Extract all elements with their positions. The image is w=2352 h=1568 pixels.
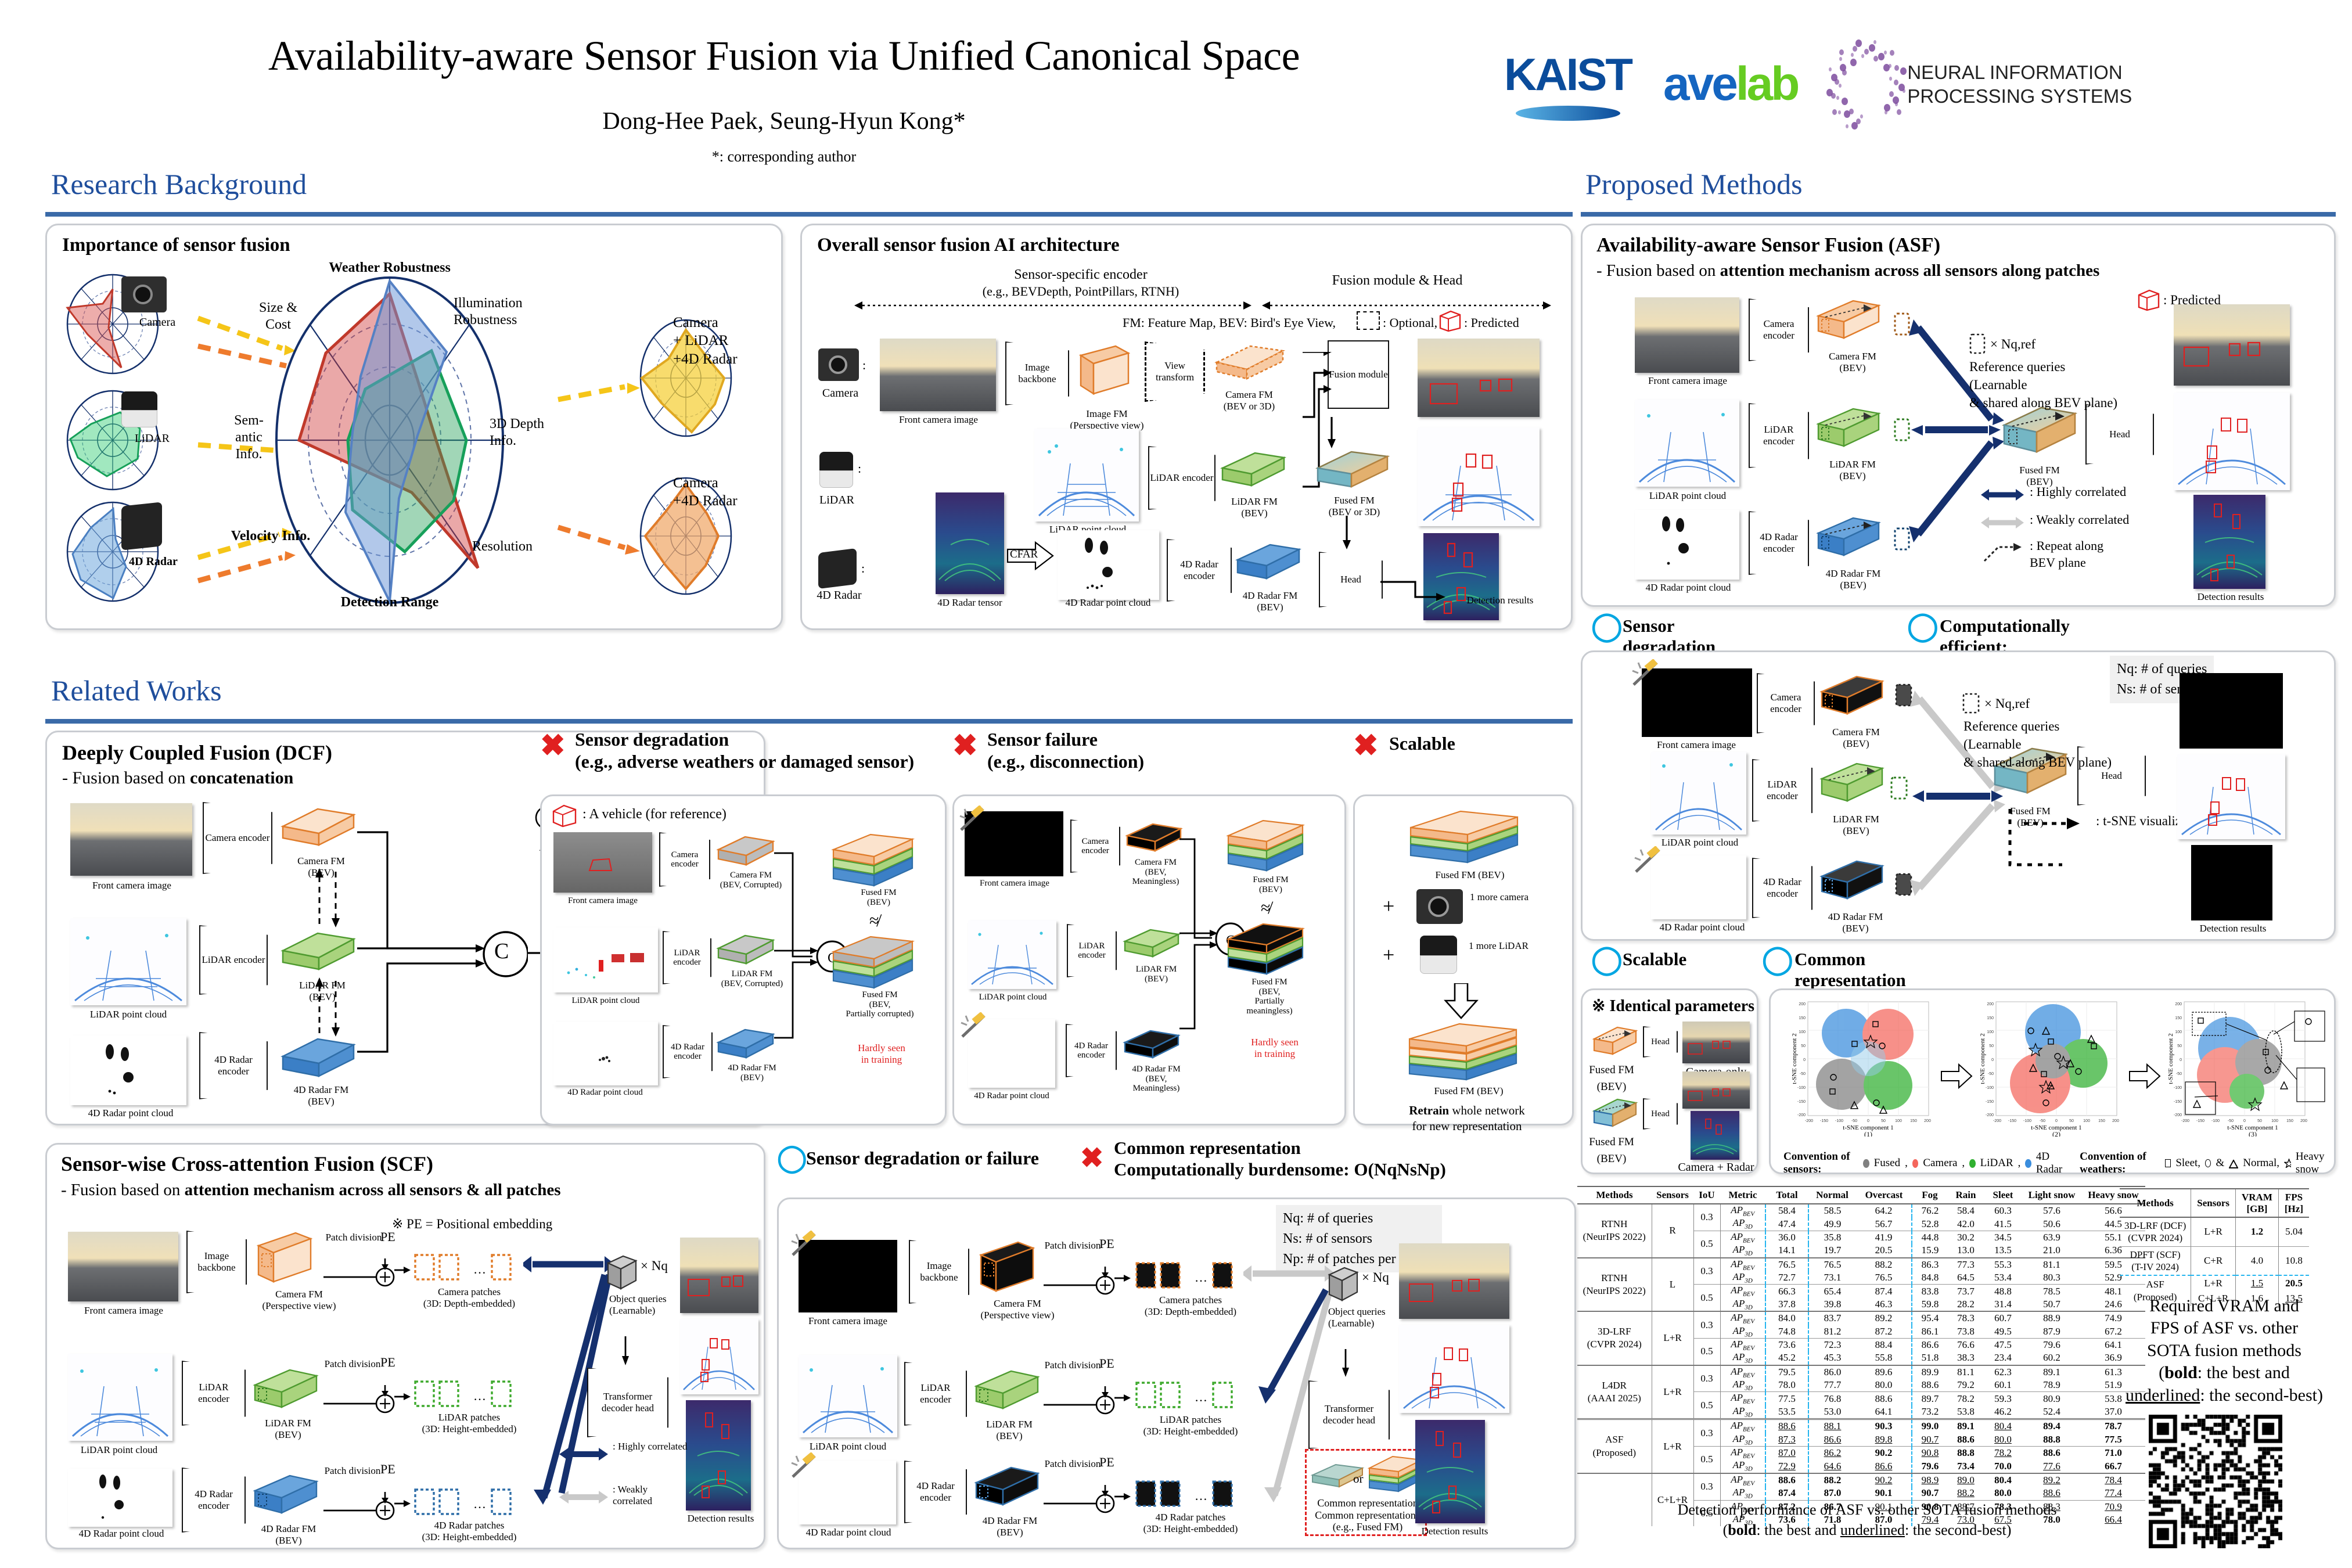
results-value-cell: 88.4 — [1856, 1338, 1912, 1351]
scfb-patch-division-1: Patch division — [1044, 1240, 1102, 1251]
svg-text:-200: -200 — [1986, 1113, 1994, 1117]
results-value-cell: 87.4 — [1856, 1285, 1912, 1298]
scf-object-queries-label: Object queries(Learnable) — [609, 1293, 691, 1316]
results-value-cell: 78.3 — [1948, 1311, 1984, 1325]
results-value-cell: 88.8 — [1948, 1447, 1984, 1460]
results-value-cell: 39.8 — [1808, 1298, 1856, 1311]
output-radar-label-2: Camera +4D Radar — [673, 474, 783, 510]
results-value-cell: 48.8 — [1984, 1285, 2022, 1298]
legend-predicted: : Predicted — [1464, 315, 1519, 330]
group-label-encoder: Sensor-specific encoder (e.g., BEVDepth,… — [924, 266, 1238, 300]
scf-pe-1: PE — [380, 1229, 395, 1245]
scfb-patch-out-2 — [1114, 1391, 1132, 1405]
results-metric-cell: APBEV — [1720, 1365, 1765, 1379]
vram-caption-line-3: SOTA fusion methods — [2102, 1340, 2346, 1362]
results-table-wrapper: MethodsSensorsIoUMetricTotalNormalOverca… — [1577, 1186, 2145, 1526]
results-value-cell: 14.1 — [1765, 1244, 1808, 1257]
asf-camera-photo — [1635, 297, 1739, 373]
results-value-cell: 88.6 — [1765, 1473, 1808, 1487]
results-metric-cell: APBEV — [1720, 1473, 1765, 1487]
degradation-camera-photo-label: Front camera image — [548, 896, 658, 906]
degradation-radar-photo — [553, 1022, 658, 1085]
scfb-patch-out-3 — [1114, 1490, 1132, 1504]
degradation-title: Sensor degradation (e.g., adverse weathe… — [575, 728, 914, 773]
results-value-cell: 89.9 — [1912, 1365, 1948, 1379]
degradation-lidar-photo-label: LiDAR point cloud — [545, 996, 666, 1006]
scf-query-down-arrow — [620, 1336, 631, 1366]
results-value-cell: 42.0 — [1948, 1217, 1984, 1231]
front-camera-image-label: Front camera image — [872, 414, 1005, 426]
legend-label-sleet: Sleet, — [2175, 1157, 2200, 1170]
scfb-camera-fm-label: Camera FM(Perspective view) — [968, 1298, 1067, 1321]
asf2-camera-encoder: Camera encoder — [1757, 673, 1815, 733]
vram-row: ASF(Proposed)L+R1.520.5 — [2120, 1275, 2309, 1291]
camera-fm-slab — [1212, 340, 1286, 387]
results-sensors-cell: L — [1652, 1258, 1693, 1312]
results-value-cell: 57.6 — [2022, 1204, 2081, 1217]
results-metric-cell: AP3D — [1720, 1244, 1765, 1257]
results-iou-cell: 0.5 — [1693, 1447, 1720, 1473]
results-col-1: Sensors — [1652, 1186, 1693, 1204]
asf-subtitle: - Fusion based on attention mechanism ac… — [1596, 261, 2099, 280]
mini-radar-camera-radar: Camera +4D Radar — [628, 475, 750, 600]
radar-axis-velocity: Velocity Info. — [227, 527, 314, 545]
results-metric-cell: AP3D — [1720, 1459, 1765, 1473]
results-metric-cell: APBEV — [1720, 1231, 1765, 1244]
dcf-interchange-arrow-2 — [311, 976, 346, 1038]
tsne-plot-1: 20015010050 0-50-100-150-200 -200-150-10… — [1783, 998, 1936, 1139]
svg-text:-50: -50 — [2040, 1119, 2045, 1123]
svg-text:0: 0 — [1991, 1058, 1994, 1062]
panel-scalable-rw: Fused FM (BEV) + 1 more camera + 1 more … — [1353, 794, 1574, 1125]
image-backbone-label: Image backbone — [1006, 362, 1068, 384]
results-value-cell: 89.2 — [1856, 1311, 1912, 1325]
results-method-cell: L4DR(AAAI 2025) — [1577, 1365, 1652, 1419]
results-value-cell: 64.6 — [1808, 1459, 1856, 1473]
legend-label-camera: Camera — [1923, 1157, 1957, 1170]
rule-research-background — [45, 212, 1573, 217]
results-iou-cell: 0.3 — [1693, 1419, 1720, 1447]
results-value-cell: 65.4 — [1808, 1285, 1856, 1298]
results-value-cell: 78.2 — [1984, 1447, 2022, 1460]
results-value-cell: 78.7 — [2081, 1419, 2145, 1433]
asf-legend-repeat: : Repeat along BEV plane — [2030, 538, 2103, 571]
panel-tsne: 20015010050 0-50-100-150-200 -200-150-10… — [1769, 988, 2336, 1174]
scf-legend-highly: : Highly correlated — [613, 1441, 688, 1452]
svg-text:-150: -150 — [2196, 1119, 2204, 1123]
legend-label-normal: Normal, — [2243, 1157, 2279, 1170]
results-iou-cell: 0.3 — [1693, 1258, 1720, 1285]
scfb-radar-photo-label: 4D Radar point cloud — [785, 1527, 912, 1538]
results-value-cell: 41.5 — [1984, 1217, 2022, 1231]
asf-lidar-photo — [1635, 400, 1739, 487]
failure-camera-encoder: Camera encoder — [1070, 819, 1120, 873]
results-value-cell: 79.2 — [1948, 1379, 1984, 1392]
asf-weakly-arrow-icon — [1981, 516, 2025, 530]
fps-value-cell: 20.5 — [2278, 1275, 2309, 1291]
svg-text:-100: -100 — [1797, 1086, 1806, 1090]
detection-camera-result-photo — [1418, 339, 1540, 417]
results-value-cell: 80.4 — [1984, 1473, 2022, 1487]
legend-optional: : Optional, — [1383, 315, 1437, 330]
scf-camera-photo-label: Front camera image — [60, 1305, 188, 1317]
lidar-encoder-block: LiDAR encoder — [1148, 446, 1215, 510]
poster-header: Availability-aware Sensor Fusion via Uni… — [0, 0, 2352, 168]
scf-lidar-photo-label: LiDAR point cloud — [56, 1444, 182, 1456]
legend-fm-bev: FM: Feature Map, BEV: Bird's Eye View, — [1123, 315, 1336, 330]
image-fm-label: Image FM (Perspective view) — [1063, 408, 1150, 431]
results-value-cell: 86.1 — [1912, 1325, 1948, 1339]
vram-caption-line-5: underlined: the second-best) — [2102, 1384, 2346, 1407]
lidar-sensor-icon — [819, 452, 853, 488]
scfb-spark-icon-2 — [789, 1452, 819, 1480]
failure-x-icon: ✖ — [952, 728, 978, 763]
results-metric-cell: AP3D — [1720, 1433, 1765, 1447]
svg-text:-150: -150 — [2008, 1119, 2016, 1123]
results-value-cell: 23.4 — [1984, 1351, 2022, 1365]
results-value-cell: 47.4 — [1765, 1217, 1808, 1231]
scfb-pe-3: PE — [1099, 1455, 1114, 1470]
asf-radar-fm-label: 4D Radar FM(BEV) — [1807, 568, 1900, 591]
results-method-cell: ASF(Proposed) — [1577, 1419, 1652, 1473]
asf-title: Availability-aware Sensor Fusion (ASF) — [1596, 233, 1940, 257]
dcf-lidar-photo — [70, 918, 186, 1005]
asf-lidar-fm-label: LiDAR FM(BEV) — [1809, 459, 1896, 481]
scfb-image-backbone: Image backbone — [909, 1240, 969, 1304]
scalable-fused-stack-2 — [1406, 1022, 1522, 1085]
results-value-cell: 66.7 — [2081, 1459, 2145, 1473]
asf-badge-scalable-label: Scalable — [1623, 949, 1686, 970]
results-value-cell: 87.0 — [1808, 1487, 1856, 1500]
results-value-cell: 86.6 — [1808, 1433, 1856, 1447]
svg-text:50: 50 — [1989, 1044, 1994, 1048]
svg-text:-150: -150 — [1986, 1100, 1994, 1104]
results-value-cell: 50.7 — [2022, 1298, 2081, 1311]
ip-head-2: Head — [1643, 1098, 1678, 1130]
svg-text:150: 150 — [2175, 1016, 2182, 1020]
radar-tensor-label: 4D Radar tensor — [922, 597, 1018, 609]
results-method-cell: RTNH(NeurIPS 2022) — [1577, 1258, 1652, 1312]
results-value-cell: 56.7 — [1856, 1217, 1912, 1231]
cfar-label: CFAR — [1010, 548, 1038, 561]
asf2-ref-queries-mult: × Nq,ref — [1984, 696, 2030, 711]
svg-text:200: 200 — [1799, 1002, 1806, 1006]
table-row: RTNH(NeurIPS 2022)R0.3APBEV58.458.564.27… — [1577, 1204, 2145, 1217]
results-value-cell: 90.2 — [1856, 1447, 1912, 1460]
ip-camera-radar-photo-top — [1682, 1071, 1750, 1109]
scalable-x-icon: ✖ — [1353, 728, 1379, 763]
vram-method-cell: 3D-LRF (DCF)(CVPR 2024) — [2120, 1217, 2191, 1246]
results-value-cell: 88.9 — [2022, 1311, 2081, 1325]
results-value-cell: 46.2 — [1984, 1405, 2022, 1419]
optional-box-icon — [1357, 311, 1380, 330]
results-value-cell: 15.9 — [1912, 1244, 1948, 1257]
results-value-cell: 87.0 — [1765, 1447, 1808, 1460]
scfb-radar-patches-label: 4D Radar patches(3D: Height-embedded) — [1124, 1512, 1257, 1534]
scf-x-text: Common representation Computationally bu… — [1114, 1137, 1446, 1180]
results-value-cell: 77.6 — [2022, 1459, 2081, 1473]
results-value-cell: 98.9 — [1912, 1473, 1948, 1487]
svg-text:100: 100 — [2083, 1119, 2090, 1123]
radar-axis-semantic: Sem-anticInfo. — [215, 412, 282, 462]
failure-radar-encoder: 4D Radar encoder — [1066, 1024, 1117, 1077]
neurips-line-1: NEURAL INFORMATION — [1907, 60, 2132, 84]
vram-sensors-cell: C+R — [2191, 1246, 2236, 1275]
scf-patch-arrow-2 — [323, 1385, 399, 1418]
head-label: Head — [1340, 574, 1361, 585]
failure-lidar-photo — [968, 920, 1056, 989]
radar-icon — [121, 502, 162, 550]
svg-text:200: 200 — [1924, 1119, 1931, 1123]
scf-patch-division-2: Patch division — [323, 1358, 382, 1370]
results-value-cell: 88.6 — [1765, 1419, 1808, 1433]
qr-code[interactable] — [2149, 1415, 2282, 1548]
results-value-cell: 49.9 — [1808, 1217, 1856, 1231]
asf-ref-queries-mult: × Nq,ref — [1990, 337, 2035, 352]
results-value-cell: 86.3 — [1912, 1258, 1948, 1271]
svg-text:100: 100 — [2175, 1030, 2182, 1034]
asf-ref-queries-note: Reference queries (Learnable & shared al… — [1969, 358, 2117, 412]
results-metric-cell: APBEV — [1720, 1447, 1765, 1460]
dcf-camera-fm-slab — [279, 803, 358, 853]
degradation-camera-encoder: Camera encoder — [659, 832, 710, 887]
radar-axis-illumination: Illumination Robustness — [454, 295, 558, 329]
vram-row: DPFT (SCF)(T-IV 2024)C+R4.010.8 — [2120, 1246, 2309, 1275]
results-col-10: Light snow — [2022, 1186, 2081, 1204]
mini-radar-lidar-label: LiDAR — [120, 432, 184, 445]
results-col-9: Sleet — [1984, 1186, 2022, 1204]
results-value-cell: 88.6 — [1912, 1379, 1948, 1392]
scfb-nq-label: × Nq — [1362, 1270, 1389, 1285]
results-value-cell: 60.3 — [1984, 1204, 2022, 1217]
results-value-cell: 80.0 — [1984, 1487, 2022, 1500]
mini-radar-4dradar-label: 4D Radar — [116, 555, 191, 569]
view-transform-label: View transform — [1146, 360, 1203, 383]
results-iou-cell: 0.5 — [1693, 1338, 1720, 1365]
failure-hardly-seen: Hardly seenin training — [1228, 1037, 1321, 1059]
mini-radar-camera: Camera — [57, 272, 191, 379]
svg-text:-200: -200 — [1797, 1113, 1806, 1117]
results-value-cell: 73.6 — [1765, 1338, 1808, 1351]
results-value-cell: 47.5 — [1984, 1338, 2022, 1351]
scalable-plus-1: + — [1383, 894, 1394, 918]
results-value-cell: 89.4 — [2022, 1419, 2081, 1433]
tsne-legend-weathers-title: Convention of weathers: — [2080, 1150, 2160, 1176]
dcf-lidar-label: LiDAR point cloud — [62, 1009, 195, 1020]
results-iou-cell: 0.3 — [1693, 1311, 1720, 1338]
results-value-cell: 55.3 — [1984, 1258, 2022, 1271]
results-iou-cell: 0.3 — [1693, 1204, 1720, 1231]
vram-table-caption: Required VRAM and FPS of ASF vs. other S… — [2102, 1295, 2346, 1407]
radar-sensor-label: 4D Radar — [804, 589, 874, 602]
ip-fused-label-2: Fused FM (BEV) — [1586, 1134, 1637, 1167]
results-table: MethodsSensorsIoUMetricTotalNormalOverca… — [1577, 1186, 2145, 1526]
results-value-cell: 41.9 — [1856, 1231, 1912, 1244]
scf-transformer-head: Transformer decoder head — [587, 1368, 668, 1437]
svg-text:150: 150 — [2286, 1119, 2293, 1123]
svg-text:(2): (2) — [2052, 1130, 2060, 1137]
scfb-camera-fm-cube — [974, 1238, 1038, 1296]
kaist-logo: KAIST — [1504, 48, 1631, 121]
scf-subtitle: - Fusion based on attention mechanism ac… — [61, 1181, 561, 1200]
results-sensors-cell: R — [1652, 1204, 1693, 1258]
legend-label-amp: & — [2216, 1157, 2224, 1170]
fps-value-cell: 10.8 — [2278, 1246, 2309, 1275]
results-value-cell: 64.5 — [1948, 1271, 1984, 1285]
scfb-camera-photo-label: Front camera image — [788, 1315, 908, 1327]
results-method-cell: 3D-LRF(CVPR 2024) — [1577, 1311, 1652, 1365]
asf-badge-scalable-icon: ◯ — [1591, 943, 1623, 976]
vram-table: MethodsSensorsVRAM[GB]FPS[Hz]3D-LRF (DCF… — [2120, 1188, 2309, 1306]
svg-text:-100: -100 — [2174, 1086, 2182, 1090]
results-value-cell: 38.3 — [1948, 1351, 1984, 1365]
asf2-radar-photo-label: 4D Radar point cloud — [1639, 922, 1765, 933]
legend-label-radar: 4D Radar — [2036, 1150, 2066, 1176]
results-value-cell: 20.5 — [1856, 1244, 1912, 1257]
scf-camera-patches-label: Camera patches(3D: Depth-embedded) — [402, 1286, 536, 1309]
svg-text:-200: -200 — [1993, 1119, 2001, 1123]
svg-text:t-SNE component 2: t-SNE component 2 — [1979, 1033, 1986, 1084]
radar-encoder-block: 4D Radar encoder — [1167, 539, 1232, 602]
legend-marker-circle — [2205, 1159, 2211, 1167]
svg-text:-150: -150 — [1797, 1100, 1806, 1104]
results-value-cell: 88.8 — [2022, 1433, 2081, 1447]
results-value-cell: 53.5 — [1765, 1405, 1808, 1419]
lidar-point-cloud-photo — [1034, 429, 1139, 522]
results-metric-cell: AP3D — [1720, 1271, 1765, 1285]
avelab-logo-ave: ave — [1663, 57, 1736, 110]
dcf-concat-symbol: C — [494, 938, 509, 964]
results-col-8: Rain — [1948, 1186, 1984, 1204]
failure-radar-fm-slab — [1123, 1026, 1182, 1063]
table-row: 3D-LRF(CVPR 2024)L+R0.3APBEV84.083.789.2… — [1577, 1311, 2145, 1325]
results-value-cell: 76.5 — [1856, 1271, 1912, 1285]
scf-patch-arrow-3 — [323, 1492, 399, 1524]
lidar-fm-slab — [1219, 447, 1288, 494]
section-related-works: Related Works — [51, 674, 222, 707]
svg-text:0: 0 — [2243, 1119, 2246, 1123]
asf-camera-fm-label: Camera FM(BEV) — [1809, 351, 1896, 373]
results-value-cell: 77.3 — [1948, 1258, 1984, 1271]
results-value-cell: 49.5 — [1984, 1325, 2022, 1339]
svg-text:150: 150 — [2098, 1119, 2105, 1123]
results-value-cell: 87.3 — [1765, 1433, 1808, 1447]
results-value-cell: 37.0 — [2081, 1405, 2145, 1419]
legend-label-lidar: LiDAR — [1980, 1157, 2013, 1170]
results-value-cell: 64.1 — [1856, 1405, 1912, 1419]
vram-value-cell: 4.0 — [2236, 1246, 2279, 1275]
results-value-cell: 52.8 — [1912, 1217, 1948, 1231]
camera-fm-label: Camera FM (BEV or 3D) — [1203, 389, 1296, 412]
dcf-front-camera-label: Front camera image — [63, 880, 200, 891]
results-value-cell: 77.5 — [2081, 1433, 2145, 1447]
results-value-cell: 45.3 — [1808, 1351, 1856, 1365]
scf-patch-out-arrow-1 — [394, 1263, 412, 1277]
results-value-cell: 89.6 — [1856, 1365, 1912, 1379]
asf-badge-ok-icon-1: ◯ — [1591, 610, 1623, 642]
svg-text:-50: -50 — [1800, 1072, 1806, 1076]
failure-fused-bot-label: Fused FM (BEV, Partially meaningless) — [1226, 977, 1313, 1016]
results-caption-line-1: Detection performance of ASF vs. other S… — [1568, 1499, 2166, 1520]
results-value-cell: 81.1 — [2022, 1258, 2081, 1271]
failure-spark-icon-1 — [958, 805, 988, 833]
ip-fused-label-1: Fused FM (BEV) — [1586, 1062, 1637, 1095]
results-value-cell: 87.9 — [2022, 1325, 2081, 1339]
dcf-interchange-arrow-1 — [311, 867, 346, 929]
svg-text:t-SNE component 2: t-SNE component 2 — [1791, 1033, 1798, 1084]
scf-radar-fm-slab — [250, 1471, 320, 1524]
svg-text:-100: -100 — [2023, 1119, 2031, 1123]
asf-fused-fm-slab — [1998, 403, 2080, 467]
asf-badge-ok-icon-2: ◯ — [1907, 610, 1939, 642]
svg-text:…: … — [473, 1389, 486, 1403]
view-transform-block: View transform — [1145, 341, 1205, 402]
results-value-cell: 58.4 — [1948, 1204, 1984, 1217]
svg-text:100: 100 — [1987, 1030, 1994, 1034]
detection-results-label: Detection results — [1448, 595, 1552, 606]
asf2-radar-fm-label: 4D Radar FM(BEV) — [1809, 911, 1902, 934]
panel-sensor-failure: Front camera image Camera encoder Camera… — [952, 794, 1346, 1125]
asf2-lidar-result-photo — [2177, 754, 2285, 839]
results-value-cell: 51.8 — [1912, 1351, 1948, 1365]
results-value-cell: 64.2 — [1856, 1204, 1912, 1217]
scalable-fused-label-1: Fused FM (BEV) — [1400, 869, 1540, 881]
svg-text:-50: -50 — [2176, 1072, 2182, 1076]
image-fm-slab — [1075, 340, 1131, 405]
results-value-cell: 77.5 — [1765, 1392, 1808, 1405]
dcf-camera-encoder-block: Camera encoder — [203, 802, 272, 874]
results-value-cell: 80.3 — [2022, 1271, 2081, 1285]
scfb-radar-result-photo — [1415, 1420, 1485, 1523]
legend-label-heavysnow: Heavy snow — [2296, 1150, 2334, 1176]
results-value-cell: 28.2 — [1948, 1298, 1984, 1311]
camera-colon: : — [862, 358, 866, 373]
results-sensors-cell: L+R — [1652, 1365, 1693, 1419]
camera-sensor-label: Camera — [811, 387, 869, 400]
degradation-camera-photo — [553, 832, 652, 893]
results-caption-line-2: (bold: the best and underlined: the seco… — [1568, 1520, 2166, 1540]
results-value-cell: 76.8 — [1808, 1392, 1856, 1405]
results-iou-cell: 0.5 — [1693, 1285, 1720, 1311]
asf2-radar-photo — [1651, 855, 1746, 919]
scf-patch-arrow-1 — [323, 1258, 399, 1291]
results-metric-cell: AP3D — [1720, 1217, 1765, 1231]
results-value-cell: 86.2 — [1808, 1447, 1856, 1460]
degradation-fused-top-stack — [830, 831, 917, 893]
legend-marker-sleet — [2165, 1159, 2171, 1167]
asf-radar-photo — [1635, 510, 1739, 580]
degradation-camera-fm-slab — [716, 832, 776, 871]
scfb-patch-out-1 — [1114, 1271, 1132, 1285]
svg-text:0: 0 — [2180, 1058, 2182, 1062]
results-value-cell: 60.2 — [2022, 1351, 2081, 1365]
asf-radar-photo-label: 4D Radar point cloud — [1623, 582, 1753, 594]
scalable-fused-stack-1 — [1407, 808, 1523, 868]
results-metric-cell: AP3D — [1720, 1351, 1765, 1365]
lidar-sensor-label: LiDAR — [808, 494, 866, 507]
head-to-results-arrow — [1380, 571, 1452, 604]
svg-text:-200: -200 — [2174, 1113, 2182, 1117]
asf2-radar-result-black — [2191, 845, 2272, 920]
scalable-plus-lidar-label: 1 more LiDAR — [1469, 940, 1544, 952]
results-value-cell: 73.1 — [1808, 1271, 1856, 1285]
vram-col-vram: VRAM[GB] — [2236, 1189, 2279, 1217]
results-value-cell: 70.0 — [1984, 1459, 2022, 1473]
scf-lidar-encoder: LiDAR encoder — [182, 1361, 246, 1426]
vram-col-fps: FPS[Hz] — [2278, 1189, 2309, 1217]
tsne-legend: Convention of sensors: Fused, Camera, Li… — [1783, 1150, 2334, 1176]
asf-camera-result-photo — [2174, 304, 2290, 386]
